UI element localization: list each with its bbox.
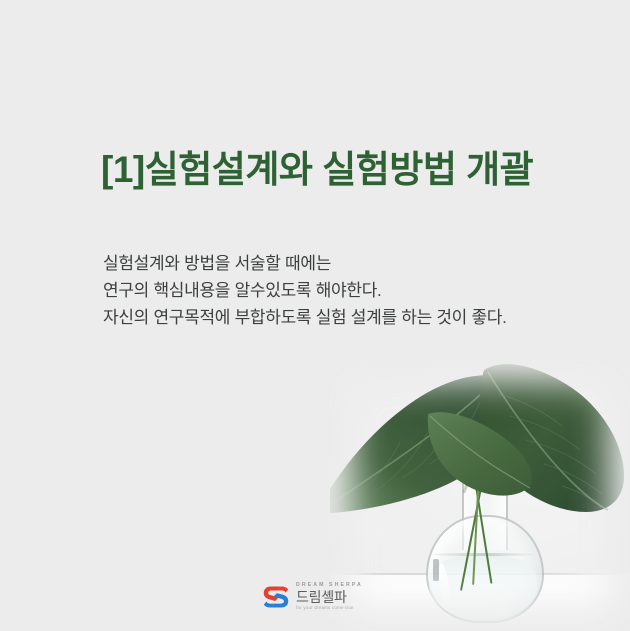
- logo-wordmark: DREAM SHERPA 드림셸파 for your dreams come t…: [296, 583, 363, 611]
- body-line-2: 연구의 핵심내용을 알수있도록 해야한다.: [103, 277, 507, 304]
- logo-korean-name: 드림셸파: [296, 590, 363, 604]
- vase-shadow-mark: [433, 559, 439, 581]
- plant-photo: [330, 360, 630, 631]
- water-line: [432, 553, 534, 556]
- logo-english-name: DREAM SHERPA: [296, 583, 363, 588]
- logo-tagline: for your dreams come true: [296, 606, 363, 610]
- slide-canvas: [1]실험설계와 실험방법 개괄 실험설계와 방법을 서술할 때에는 연구의 핵…: [0, 0, 630, 631]
- brand-logo: DREAM SHERPA 드림셸파 for your dreams come t…: [262, 576, 374, 618]
- body-line-3: 자신의 연구목적에 부합하도록 실험 설계를 하는 것이 좋다.: [103, 304, 507, 331]
- dream-sherpa-s-mark-icon: [262, 583, 290, 611]
- leaf-middle-small: [422, 408, 537, 503]
- body-line-1: 실험설계와 방법을 서술할 때에는: [103, 250, 507, 277]
- page-title: [1]실험설계와 실험방법 개괄: [101, 139, 533, 193]
- body-paragraph: 실험설계와 방법을 서술할 때에는 연구의 핵심내용을 알수있도록 해야한다. …: [103, 250, 507, 331]
